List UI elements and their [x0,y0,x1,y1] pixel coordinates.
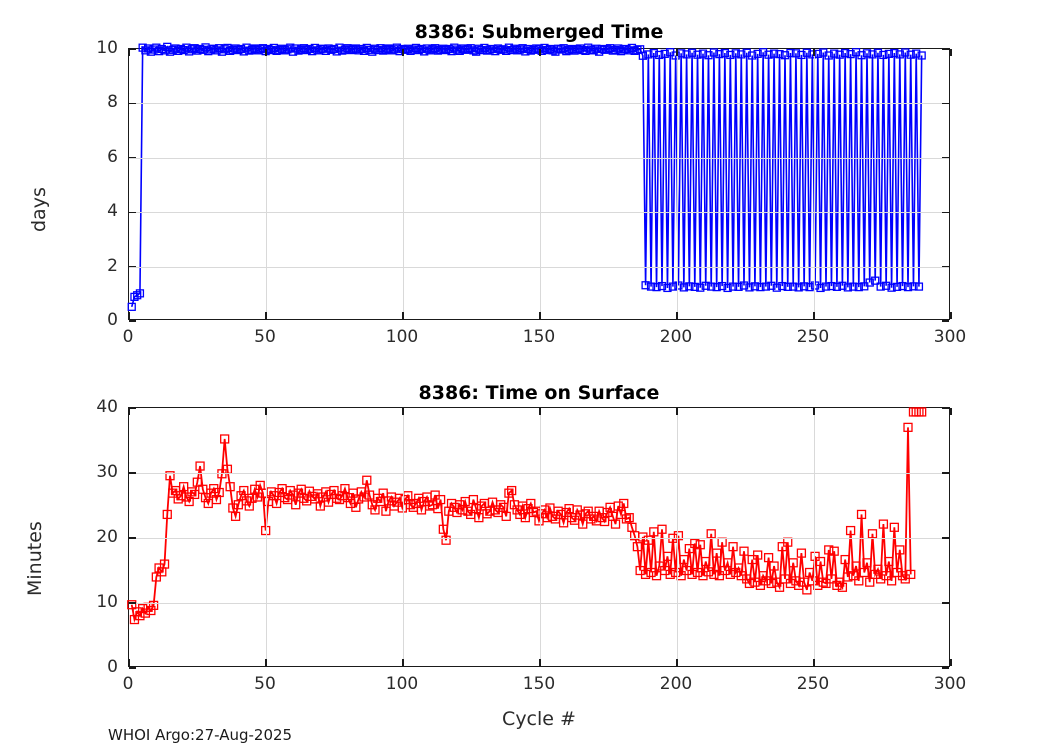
grid-line-vertical [266,49,267,319]
y-axis-tick-label: 2 [107,256,118,276]
x-axis-tick-label: 50 [254,674,276,694]
y-axis-tick [129,266,136,267]
data-series-markers [128,408,926,624]
x-axis-tick [676,312,677,319]
y-axis-tick-label: 10 [96,592,118,612]
grid-line-horizontal [129,103,949,104]
time-on-surface-panel: 8386: Time on Surface Minutes Cycle # 01… [0,360,1050,750]
y-axis-tick-label: 10 [96,38,118,58]
time-on-surface-title: 8386: Time on Surface [128,382,950,404]
x-axis-tick [813,49,814,56]
grid-line-vertical [677,408,678,666]
grid-line-horizontal [129,603,949,604]
x-axis-tick [539,49,540,56]
grid-line-horizontal [129,212,949,213]
x-axis-tick [950,408,951,415]
x-axis-tick [813,659,814,666]
y-axis-tick [129,157,136,158]
x-axis-tick-label: 300 [934,327,966,347]
y-axis-tick [942,602,949,603]
x-axis-tick [950,659,951,666]
grid-line-vertical [540,408,541,666]
submerged-time-y-axis-label: days [28,187,50,232]
x-axis-tick-label: 150 [523,674,555,694]
grid-line-vertical [677,49,678,319]
y-axis-tick [942,667,949,668]
grid-line-vertical [814,49,815,319]
x-axis-tick [128,49,129,56]
x-axis-tick-label: 0 [123,674,134,694]
grid-line-horizontal [129,473,949,474]
x-axis-tick-label: 200 [660,327,692,347]
grid-line-vertical [403,49,404,319]
y-axis-tick [942,472,949,473]
x-axis-tick [128,659,129,666]
y-axis-tick-label: 0 [107,657,118,677]
data-series-markers [128,43,925,310]
x-axis-tick [676,49,677,56]
y-axis-tick [942,212,949,213]
y-axis-tick [129,602,136,603]
y-axis-tick-label: 8 [107,92,118,112]
submerged-time-title: 8386: Submerged Time [128,21,950,43]
y-axis-tick [129,667,136,668]
x-axis-tick [402,312,403,319]
time-on-surface-y-axis-label: Minutes [24,521,46,596]
footer-credit: WHOI Argo:27-Aug-2025 [108,726,292,744]
y-axis-tick [942,266,949,267]
time-on-surface-axes [128,407,950,667]
data-series-line [132,427,911,619]
y-axis-tick [942,48,949,49]
argo-float-figure: 8386: Submerged Time days 02468100501001… [0,0,1050,750]
grid-line-vertical [814,408,815,666]
data-series-line [132,47,922,307]
y-axis-tick-label: 30 [96,462,118,482]
time-on-surface-plot-area [129,408,949,666]
x-axis-tick-label: 50 [254,327,276,347]
y-axis-tick [129,537,136,538]
x-axis-tick-label: 250 [797,327,829,347]
y-axis-tick [942,320,949,321]
grid-line-vertical [403,408,404,666]
grid-line-horizontal [129,538,949,539]
x-axis-tick [950,312,951,319]
y-axis-tick-label: 6 [107,147,118,167]
y-axis-tick [129,320,136,321]
y-axis-tick [129,407,136,408]
x-axis-tick [402,49,403,56]
submerged-time-axes [128,48,950,320]
x-axis-tick [813,408,814,415]
y-axis-tick [129,472,136,473]
grid-line-vertical [266,408,267,666]
y-axis-tick-label: 40 [96,397,118,417]
x-axis-tick [265,49,266,56]
x-axis-tick [813,312,814,319]
x-axis-tick [950,49,951,56]
x-axis-tick [539,408,540,415]
y-axis-tick [942,103,949,104]
x-axis-tick [676,659,677,666]
x-axis-tick [676,408,677,415]
submerged-time-panel: 8386: Submerged Time days 02468100501001… [0,0,1050,370]
y-axis-tick [942,537,949,538]
submerged-time-plot-area [129,49,949,319]
x-axis-tick [402,408,403,415]
x-axis-tick [128,408,129,415]
y-axis-tick [129,103,136,104]
y-axis-tick [942,157,949,158]
grid-line-vertical [540,49,541,319]
x-axis-tick-label: 200 [660,674,692,694]
y-axis-tick [129,48,136,49]
x-axis-tick-label: 250 [797,674,829,694]
grid-line-horizontal [129,267,949,268]
x-axis-tick [539,312,540,319]
x-axis-tick [265,312,266,319]
x-axis-tick [128,312,129,319]
x-axis-tick-label: 150 [523,327,555,347]
y-axis-tick-label: 20 [96,527,118,547]
x-axis-tick-label: 100 [386,674,418,694]
x-axis-tick [265,408,266,415]
y-axis-tick [129,212,136,213]
y-axis-tick-label: 0 [107,310,118,330]
x-axis-tick-label: 100 [386,327,418,347]
x-axis-tick-label: 300 [934,674,966,694]
x-axis-tick [402,659,403,666]
y-axis-tick [942,407,949,408]
x-axis-tick [265,659,266,666]
y-axis-tick-label: 4 [107,201,118,221]
x-axis-tick [539,659,540,666]
x-axis-tick-label: 0 [123,327,134,347]
grid-line-horizontal [129,158,949,159]
